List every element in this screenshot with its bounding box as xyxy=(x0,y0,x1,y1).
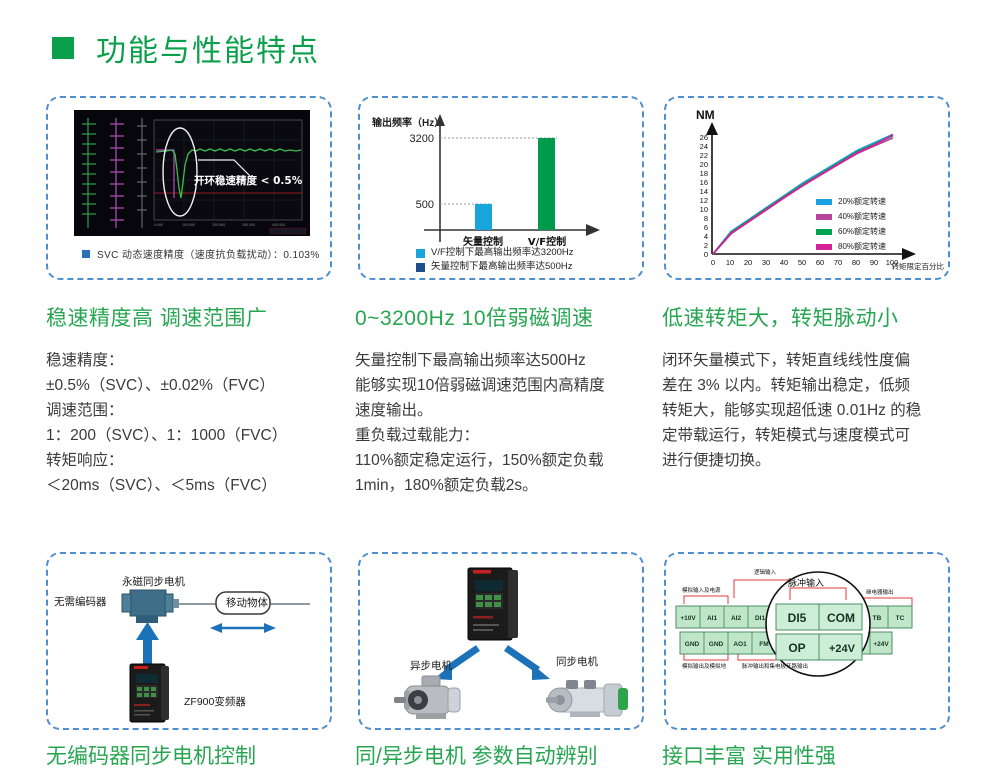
svg-text:AI2: AI2 xyxy=(731,615,742,622)
svg-text:+24V: +24V xyxy=(829,643,856,655)
legend-item-80: 80%额定转速 xyxy=(816,239,886,254)
card-motor-auto-tuning: 异步电机 同步电机 xyxy=(358,552,644,730)
card-torque-linearity: NM 024 6810 121416 182022 2426 01020 304… xyxy=(664,96,950,280)
svg-text:300.000: 300.000 xyxy=(242,223,255,227)
svg-text:DI5: DI5 xyxy=(788,611,807,625)
svg-text:18: 18 xyxy=(700,169,708,178)
legend-label-1: 矢量控制下最高输出频率达500Hz xyxy=(431,260,572,274)
svg-text:80: 80 xyxy=(852,258,860,267)
legend-label-80: 80%额定转速 xyxy=(838,239,886,254)
scope-svg: 开环稳速精度 < 0.5% 0.000100.000 200.000300.00… xyxy=(74,110,310,236)
svg-text:0.000: 0.000 xyxy=(154,223,163,227)
label-moving-object: 移动物体 xyxy=(226,595,268,610)
svg-text:+10V: +10V xyxy=(680,615,696,622)
legend-item-20: 20%额定转速 xyxy=(816,194,886,209)
svg-text:AI1: AI1 xyxy=(707,615,718,622)
svg-text:50: 50 xyxy=(798,258,806,267)
bar-ytick-3200: 3200 xyxy=(410,133,434,145)
motor-autotune-diagram-svg xyxy=(360,554,642,728)
svg-text:60: 60 xyxy=(816,258,824,267)
line-chart-svg: 024 6810 121416 182022 2426 01020 304050… xyxy=(666,102,948,274)
svg-text:16: 16 xyxy=(700,178,708,187)
label-analog-input-power: 模拟输入及电源 xyxy=(682,586,721,594)
svg-text:400.000: 400.000 xyxy=(272,223,285,227)
svg-text:2: 2 xyxy=(704,241,708,250)
legend-swatch-80 xyxy=(816,244,832,250)
legend-item-0: V/F控制下最高输出频率达3200Hz xyxy=(416,246,574,260)
caption-text: SVC 动态速度精度（速度抗负载扰动）：0.103% xyxy=(97,246,320,261)
label-logic-input: 逻辑输入 xyxy=(754,568,776,576)
legend-swatch-60 xyxy=(816,229,832,235)
card-terminal-interfaces: +10VAI1AI2 DI1DI2DI3 DI4TATB TC GNDGNDAO… xyxy=(664,552,950,730)
svg-text:AO1: AO1 xyxy=(733,641,747,648)
legend-label-40: 40%额定转速 xyxy=(838,209,886,224)
label-no-encoder: 无需编码器 xyxy=(54,594,107,609)
scope-annotation-text: 开环稳速精度 < 0.5% xyxy=(194,174,303,187)
legend-label-0: V/F控制下最高输出频率达3200Hz xyxy=(431,246,574,260)
svg-text:14: 14 xyxy=(700,187,708,196)
svg-text:DI1: DI1 xyxy=(755,615,766,622)
label-sync-motor-right: 同步电机 xyxy=(556,654,598,669)
page-header: 功能与性能特点 xyxy=(52,26,320,70)
svg-text:OP: OP xyxy=(788,641,805,655)
line-chart-legend: 20%额定转速 40%额定转速 60%额定转速 80%额定转速 xyxy=(816,194,886,254)
svg-text:+24V: +24V xyxy=(873,641,889,648)
svg-text:70: 70 xyxy=(834,258,842,267)
label-async-motor: 异步电机 xyxy=(410,658,452,673)
bar-chart-legend: V/F控制下最高输出频率达3200Hz 矢量控制下最高输出频率达500Hz xyxy=(416,246,574,274)
bottom-title-1: 无编码器同步电机控制 xyxy=(46,740,256,770)
legend-swatch-40 xyxy=(816,214,832,220)
scope-caption: SVC 动态速度精度（速度抗负载扰动）：0.103% xyxy=(82,246,320,261)
svg-text:GND: GND xyxy=(685,641,700,648)
svg-text:COM: COM xyxy=(827,611,855,625)
legend-swatch-1 xyxy=(416,263,425,272)
bottom-title-3: 接口丰富 实用性强 xyxy=(662,740,836,770)
svg-text:6: 6 xyxy=(704,223,708,232)
svg-text:24: 24 xyxy=(700,142,708,151)
svg-text:26: 26 xyxy=(700,133,708,142)
svg-text:FM: FM xyxy=(759,641,768,648)
svg-text:100.000: 100.000 xyxy=(182,223,195,227)
column-title-2: 0~3200Hz 10倍弱磁调速 xyxy=(355,302,594,332)
bar-vector-control xyxy=(475,204,492,230)
svg-text:90: 90 xyxy=(870,258,878,267)
scope-screenshot: 开环稳速精度 < 0.5% 0.000100.000 200.000300.00… xyxy=(74,110,310,236)
column-title-1: 稳速精度高 调速范围广 xyxy=(46,302,267,332)
svg-text:40: 40 xyxy=(780,258,788,267)
line-chart-xlabel: 转矩限定百分比 xyxy=(892,261,945,272)
page-title: 功能与性能特点 xyxy=(96,26,320,70)
svg-text:20: 20 xyxy=(700,160,708,169)
column-title-3: 低速转矩大，转矩脉动小 xyxy=(662,302,899,332)
label-analog-output-gnd: 模拟输出及模拟地 xyxy=(682,662,726,670)
label-zf900-drive: ZF900变频器 xyxy=(184,694,246,709)
svg-text:TB: TB xyxy=(873,615,882,622)
svg-text:GND: GND xyxy=(709,641,724,648)
svg-text:0: 0 xyxy=(711,258,715,267)
svg-text:20: 20 xyxy=(744,258,752,267)
label-pulse-open-collector: 脉冲输出和集电极开路输出 xyxy=(742,662,808,670)
card-output-frequency: 输出频率（Hz） 3200 500 矢量控制 V/F控制 V/F控制下最高输出 xyxy=(358,96,644,280)
svg-text:12: 12 xyxy=(700,196,708,205)
bar-vf-control xyxy=(538,138,555,230)
legend-item-60: 60%额定转速 xyxy=(816,224,886,239)
sync-servo-motor-image xyxy=(546,680,628,717)
svg-text:8: 8 xyxy=(704,214,708,223)
legend-swatch-0 xyxy=(416,249,425,258)
label-sync-motor: 永磁同步电机 xyxy=(122,574,185,589)
card-svc-accuracy: 开环稳速精度 < 0.5% 0.000100.000 200.000300.00… xyxy=(46,96,332,280)
legend-item-1: 矢量控制下最高输出频率达500Hz xyxy=(416,260,574,274)
legend-swatch-20 xyxy=(816,199,832,205)
column-body-2: 矢量控制下最高输出频率达500Hz 能够实现10倍弱磁调速范围内高精度 速度输出… xyxy=(355,348,655,498)
svg-text:0: 0 xyxy=(704,250,708,259)
column-body-1: 稳速精度： ±0.5%（SVC）、±0.02%（FVC） 调速范围： 1：200… xyxy=(46,348,346,498)
svg-text:30: 30 xyxy=(762,258,770,267)
legend-item-40: 40%额定转速 xyxy=(816,209,886,224)
legend-label-20: 20%额定转速 xyxy=(838,194,886,209)
svg-text:10: 10 xyxy=(700,205,708,214)
bottom-title-2: 同/异步电机 参数自动辨别 xyxy=(355,740,598,770)
label-relay-output: 继电器输出 xyxy=(866,588,894,596)
svg-text:200.000: 200.000 xyxy=(212,223,225,227)
async-motor-image xyxy=(394,676,460,719)
svg-text:22: 22 xyxy=(700,151,708,160)
svg-text:4: 4 xyxy=(704,232,708,241)
bar-ytick-500: 500 xyxy=(416,199,434,211)
caption-square-icon xyxy=(82,250,90,258)
legend-label-60: 60%额定转速 xyxy=(838,224,886,239)
header-bullet-icon xyxy=(52,37,74,59)
column-body-3: 闭环矢量模式下，转矩直线线性度偏 差在 3% 以内。转矩输出稳定，低频 转矩大，… xyxy=(662,348,978,473)
svg-text:10: 10 xyxy=(726,258,734,267)
label-pulse-input: 脉冲输入 xyxy=(788,576,824,589)
page-root: 功能与性能特点 xyxy=(0,0,1000,782)
bar-chart-svg: 3200 500 矢量控制 V/F控制 xyxy=(362,102,642,252)
svg-text:TC: TC xyxy=(896,615,905,622)
card-encoderless-sync-motor: 永磁同步电机 无需编码器 移动物体 ZF900变频器 xyxy=(46,552,332,730)
